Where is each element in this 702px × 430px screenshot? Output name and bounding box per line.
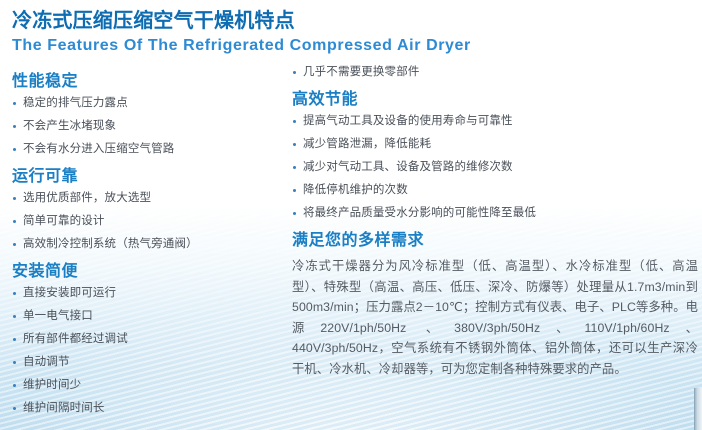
list-item-label: 不会产生冰堵现象 [23, 120, 116, 132]
bullet-dot-icon [13, 338, 16, 341]
list-item-label: 降低停机维护的次数 [303, 184, 408, 196]
content-area: 冷冻式压缩压缩空气干燥机特点 The Features Of The Refri… [0, 0, 702, 425]
list-item-label: 将最终产品质量受水分影响的可能性降至最低 [303, 207, 536, 219]
list-item: 高效制冷控制系统（热气旁通阀） [12, 238, 286, 251]
list-item-label: 几乎不需要更换零部件 [303, 66, 420, 78]
page-subtitle: The Features Of The Refrigerated Compres… [12, 35, 702, 57]
section-heading-energy-saving: 高效节能 [292, 89, 702, 111]
bullet-dot-icon [13, 125, 16, 128]
list-item: 几乎不需要更换零部件 [292, 66, 702, 79]
bullet-dot-icon [13, 102, 16, 105]
list-item: 简单可靠的设计 [12, 215, 286, 228]
bullet-list-reliability: 选用优质部件，放大选型 简单可靠的设计 高效制冷控制系统（热气旁通阀） [12, 192, 286, 251]
bullet-dot-icon [13, 292, 16, 295]
section-heading-diverse-needs: 满足您的多样需求 [292, 230, 702, 252]
list-item: 稳定的排气压力露点 [12, 97, 286, 110]
bullet-list-installation: 直接安装即可运行 单一电气接口 所有部件都经过调试 自动调节 维护时间少 维护间… [12, 287, 286, 415]
list-item-label: 减少管路泄漏，降低能耗 [303, 138, 431, 150]
bullet-dot-icon [13, 243, 16, 246]
list-item-label: 自动调节 [23, 356, 70, 368]
list-item: 自动调节 [12, 356, 286, 369]
bullet-dot-icon [293, 189, 296, 192]
list-item: 直接安装即可运行 [12, 287, 286, 300]
page-title: 冷冻式压缩压缩空气干燥机特点 [12, 9, 702, 34]
page-header: 冷冻式压缩压缩空气干燥机特点 The Features Of The Refri… [0, 9, 702, 57]
list-item: 单一电气接口 [12, 310, 286, 323]
list-item: 所有部件都经过调试 [12, 333, 286, 346]
list-item-label: 提高气动工具及设备的使用寿命与可靠性 [303, 115, 513, 127]
bullet-dot-icon [13, 407, 16, 410]
list-item: 将最终产品质量受水分影响的可能性降至最低 [292, 207, 702, 220]
left-column: 性能稳定 稳定的排气压力露点 不会产生冰堵现象 不会有水分进入压缩空气管路 运行… [0, 66, 286, 425]
bullet-list-energy-saving: 提高气动工具及设备的使用寿命与可靠性 减少管路泄漏，降低能耗 减少对气动工具、设… [292, 115, 702, 220]
list-item: 维护间隔时间长 [12, 402, 286, 415]
bullet-dot-icon [293, 120, 296, 123]
list-item-label: 选用优质部件，放大选型 [23, 192, 151, 204]
list-item-label: 稳定的排气压力露点 [23, 97, 128, 109]
list-item: 降低停机维护的次数 [292, 184, 702, 197]
list-item-label: 高效制冷控制系统（热气旁通阀） [23, 238, 198, 250]
bullet-list-performance: 稳定的排气压力露点 不会产生冰堵现象 不会有水分进入压缩空气管路 [12, 97, 286, 156]
list-item: 选用优质部件，放大选型 [12, 192, 286, 205]
bullet-dot-icon [293, 143, 296, 146]
description-paragraph: 冷冻式干燥器分为风冷标准型（低、高温型）、水冷标准型（低、高温型）、特殊型（高温… [292, 256, 702, 379]
bullet-dot-icon [13, 220, 16, 223]
list-item-label: 直接安装即可运行 [23, 287, 116, 299]
two-column-layout: 性能稳定 稳定的排气压力露点 不会产生冰堵现象 不会有水分进入压缩空气管路 运行… [0, 66, 702, 425]
right-column: 几乎不需要更换零部件 高效节能 提高气动工具及设备的使用寿命与可靠性 减少管路泄… [286, 66, 702, 379]
section-heading-reliability: 运行可靠 [12, 166, 286, 188]
bullet-dot-icon [13, 315, 16, 318]
list-item-label: 所有部件都经过调试 [23, 333, 128, 345]
section-heading-performance: 性能稳定 [12, 71, 286, 93]
list-item-label: 减少对气动工具、设备及管路的维修次数 [303, 161, 513, 173]
bullet-dot-icon [293, 212, 296, 215]
list-item: 不会有水分进入压缩空气管路 [12, 143, 286, 156]
bullet-dot-icon [13, 384, 16, 387]
section-heading-installation: 安装简便 [12, 261, 286, 283]
bullet-dot-icon [293, 166, 296, 169]
scrollbar-edge-sliver[interactable] [694, 388, 702, 430]
list-item: 维护时间少 [12, 379, 286, 392]
list-item: 不会产生冰堵现象 [12, 120, 286, 133]
list-item-label: 维护间隔时间长 [23, 402, 105, 414]
list-item-label: 简单可靠的设计 [23, 215, 105, 227]
list-item-label: 不会有水分进入压缩空气管路 [23, 143, 174, 155]
list-item: 减少对气动工具、设备及管路的维修次数 [292, 161, 702, 174]
bullet-dot-icon [13, 148, 16, 151]
bullet-dot-icon [293, 71, 296, 74]
page-root: 冷冻式压缩压缩空气干燥机特点 The Features Of The Refri… [0, 0, 702, 430]
bullet-list-continued: 几乎不需要更换零部件 [292, 66, 702, 79]
bullet-dot-icon [13, 197, 16, 200]
list-item-label: 维护时间少 [23, 379, 81, 391]
bullet-dot-icon [13, 361, 16, 364]
list-item: 减少管路泄漏，降低能耗 [292, 138, 702, 151]
list-item: 提高气动工具及设备的使用寿命与可靠性 [292, 115, 702, 128]
list-item-label: 单一电气接口 [23, 310, 93, 322]
